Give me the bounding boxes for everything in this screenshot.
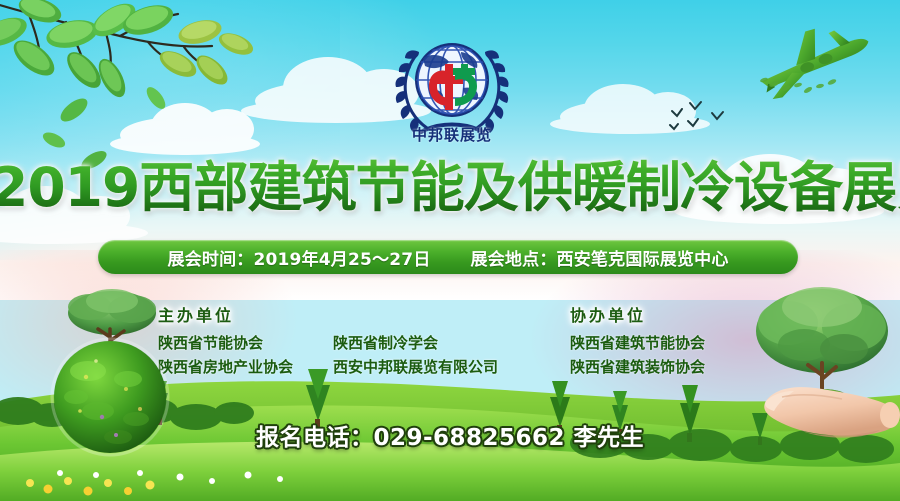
list-item: 陕西省节能协会 陕西省制冷学会: [158, 332, 498, 353]
logo-caption: 中邦联展览: [393, 124, 511, 145]
airplane-icon: [740, 22, 890, 102]
co-organizers-badge: 协办单位: [570, 302, 705, 326]
contact-phone-text: 报名电话：029-68825662 李先生: [256, 425, 644, 451]
event-info-banner: 展会时间：2019年4月25～27日 展会地点：西安笔克国际展览中心: [98, 240, 798, 274]
host-organizers-badge: 主办单位: [158, 302, 498, 326]
page-title: 2019西部建筑节能及供暖制冷设备展览会: [0, 155, 900, 225]
contact-phone: 报名电话：029-68825662 李先生: [0, 418, 900, 452]
event-venue-label: 展会地点：西安笔克国际展览中心: [471, 245, 729, 270]
host-org-2: 陕西省制冷学会: [333, 332, 438, 353]
co-org-1: 陕西省建筑节能协会: [570, 332, 705, 353]
exhibition-poster: 中邦联展览 2019西部建筑节能及供暖制冷设备展览会 展会时间：2019年4月2…: [0, 0, 900, 501]
main-title-text: 2019西部建筑节能及供暖制冷设备展览会: [0, 155, 900, 221]
leaf-branch-icon: [0, 0, 328, 172]
list-item: 陕西省建筑节能协会: [570, 332, 705, 353]
birds-icon: [668, 95, 758, 131]
event-date-label: 展会时间：2019年4月25～27日: [167, 245, 430, 270]
